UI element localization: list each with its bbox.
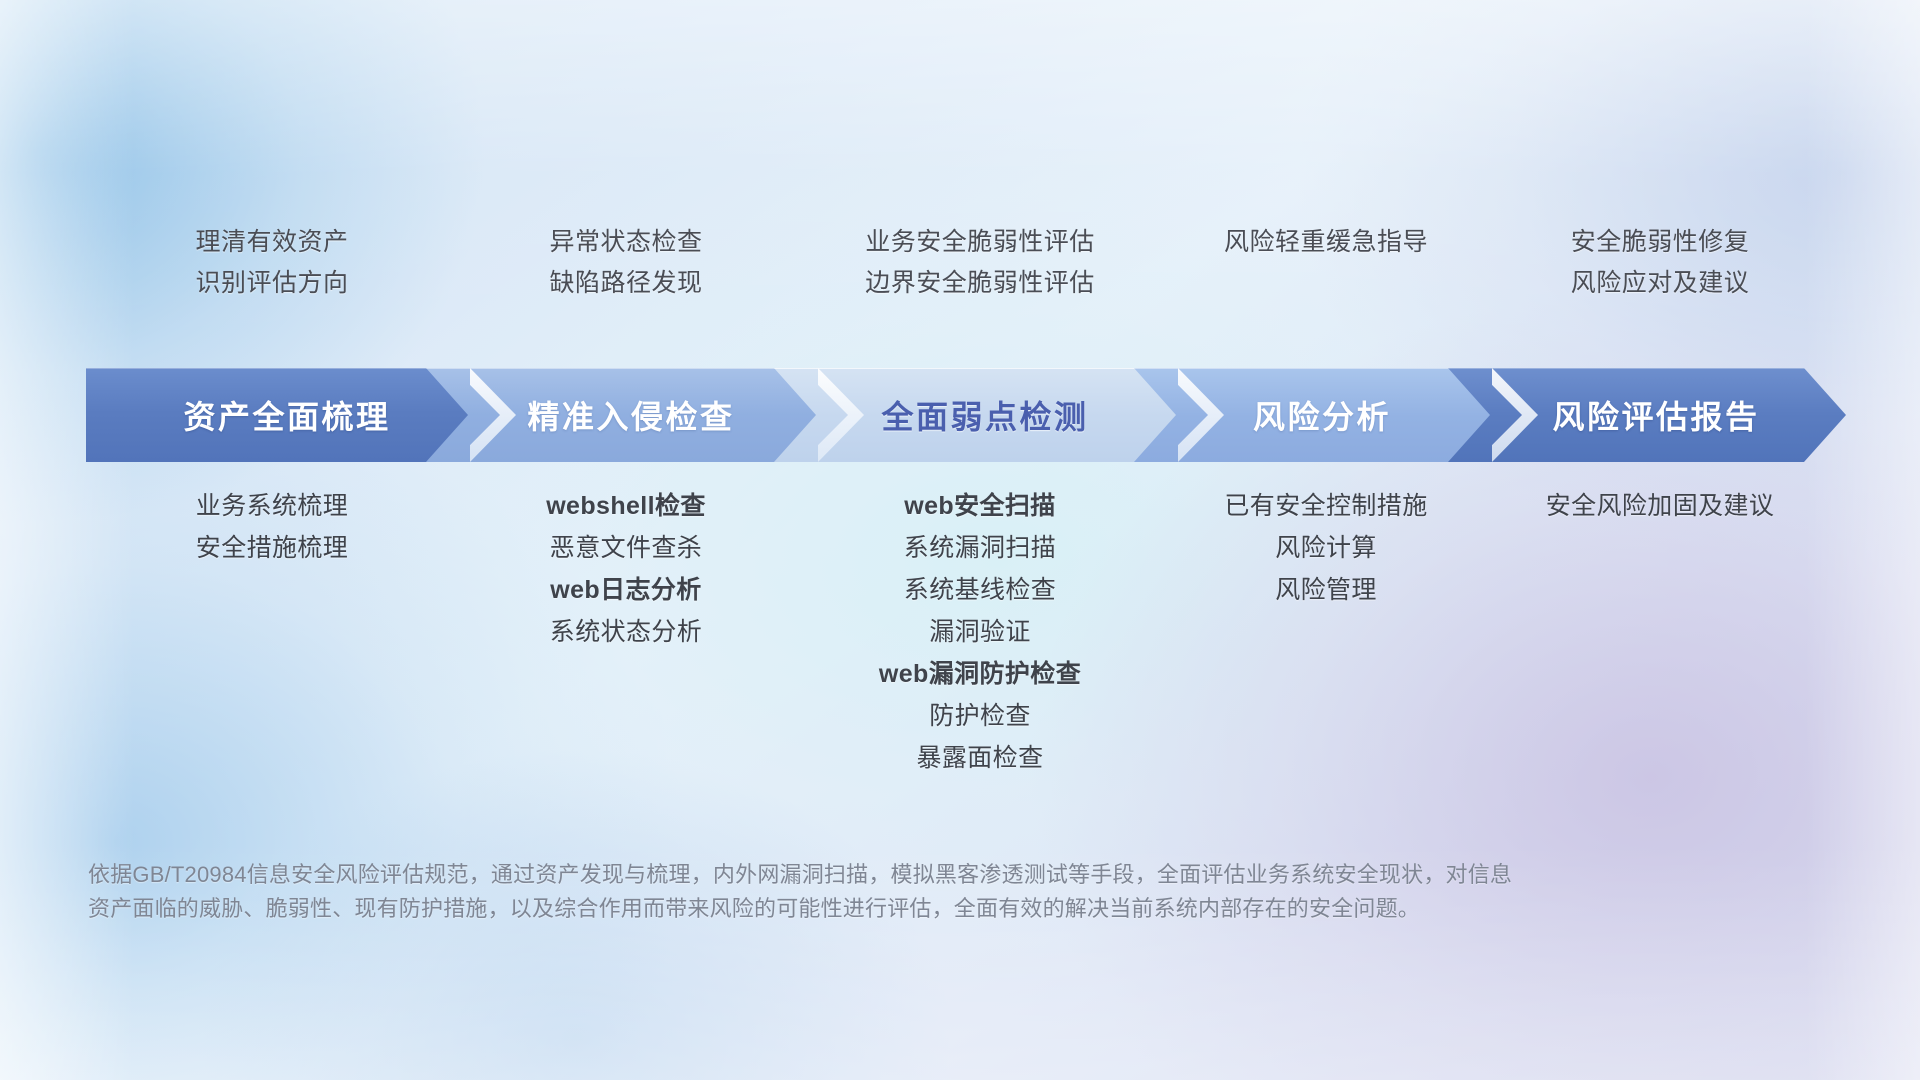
stage-item: 系统基线检查	[904, 576, 1056, 604]
stage-item: 安全风险加固及建议	[1546, 492, 1775, 520]
top-notes-row: 理清有效资产 识别评估方向 异常状态检查 缺陷路径发现 业务安全脆弱性评估 边界…	[86, 228, 1834, 297]
stage-item: 安全措施梳理	[196, 534, 348, 562]
process-stage-4[interactable]: 风险分析	[1134, 368, 1492, 462]
top-note: 安全脆弱性修复	[1571, 228, 1750, 256]
stage-item: 漏洞验证	[929, 618, 1031, 646]
stage-items-4: 已有安全控制措施 风险计算 风险管理	[1166, 492, 1486, 772]
process-stage-label: 资产全面梳理	[165, 392, 390, 438]
stage-item: webshell检查	[546, 492, 706, 520]
process-stage-label: 全面弱点检测	[863, 392, 1088, 438]
top-note: 边界安全脆弱性评估	[865, 269, 1095, 297]
stage-item: 系统漏洞扫描	[904, 534, 1056, 562]
diagram-content: 理清有效资产 识别评估方向 异常状态检查 缺陷路径发现 业务安全脆弱性评估 边界…	[0, 0, 1920, 1080]
stage-item: 暴露面检查	[916, 744, 1043, 772]
stage-items-3: web安全扫描 系统漏洞扫描 系统基线检查 漏洞验证 web漏洞防护检查 防护检…	[794, 492, 1166, 772]
stage-item: 已有安全控制措施	[1224, 492, 1427, 520]
stage-item: 恶意文件查杀	[550, 534, 702, 562]
process-stage-1[interactable]: 资产全面梳理	[86, 368, 470, 462]
slide-canvas: 理清有效资产 识别评估方向 异常状态检查 缺陷路径发现 业务安全脆弱性评估 边界…	[0, 0, 1920, 1080]
stage-item: 系统状态分析	[550, 618, 702, 646]
footer-line-1: 依据GB/T20984信息安全风险评估规范，通过资产发现与梳理，内外网漏洞扫描，…	[88, 858, 1618, 892]
top-note: 风险轻重缓急指导	[1224, 228, 1428, 256]
process-stage-label: 风险分析	[1235, 392, 1391, 438]
top-notes-stage-3: 业务安全脆弱性评估 边界安全脆弱性评估	[794, 228, 1166, 297]
top-note: 缺陷路径发现	[549, 269, 702, 297]
stage-item: 风险计算	[1275, 534, 1377, 562]
stage-items-2: webshell检查 恶意文件查杀 web日志分析 系统状态分析	[458, 492, 794, 772]
top-notes-stage-4: 风险轻重缓急指导	[1166, 228, 1486, 297]
top-note: 理清有效资产	[195, 228, 348, 256]
top-note: 识别评估方向	[195, 269, 348, 297]
process-stage-label: 风险评估报告	[1534, 392, 1759, 438]
process-stage-2[interactable]: 精准入侵检查	[426, 368, 818, 462]
stage-item: 防护检查	[929, 702, 1031, 730]
stage-items-row: 业务系统梳理 安全措施梳理 webshell检查 恶意文件查杀 web日志分析 …	[86, 492, 1834, 772]
stage-item: web安全扫描	[904, 492, 1055, 520]
process-stage-label: 精准入侵检查	[509, 392, 734, 438]
stage-item: 风险管理	[1275, 576, 1377, 604]
footer-description: 依据GB/T20984信息安全风险评估规范，通过资产发现与梳理，内外网漏洞扫描，…	[88, 858, 1618, 926]
top-note: 风险应对及建议	[1571, 269, 1750, 297]
footer-line-2: 资产面临的威胁、脆弱性、现有防护措施，以及综合作用而带来风险的可能性进行评估，全…	[88, 892, 1618, 926]
top-notes-stage-2: 异常状态检查 缺陷路径发现	[458, 228, 794, 297]
process-stage-5[interactable]: 风险评估报告	[1448, 368, 1846, 462]
stage-items-1: 业务系统梳理 安全措施梳理	[86, 492, 458, 772]
process-stage-3[interactable]: 全面弱点检测	[774, 368, 1178, 462]
stage-item: 业务系统梳理	[196, 492, 348, 520]
top-note: 业务安全脆弱性评估	[865, 228, 1095, 256]
stage-item: web漏洞防护检查	[879, 660, 1081, 688]
top-notes-stage-1: 理清有效资产 识别评估方向	[86, 228, 458, 297]
process-chevron-band: 资产全面梳理 精准入侵检查 全面弱点检测 风险分析 风险评估报告	[86, 368, 1846, 462]
top-notes-stage-5: 安全脆弱性修复 风险应对及建议	[1486, 228, 1834, 297]
stage-items-5: 安全风险加固及建议	[1486, 492, 1834, 772]
top-note: 异常状态检查	[549, 228, 702, 256]
stage-item: web日志分析	[550, 576, 701, 604]
